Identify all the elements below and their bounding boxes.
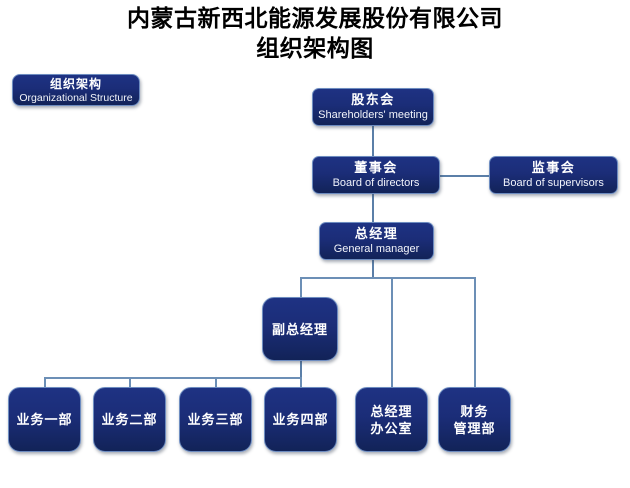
node-board-of-directors[interactable]: 董事会 Board of directors [312,156,440,194]
connector-deputy-distribution-bar [44,377,302,379]
connector-deputy-down-stub [300,361,302,378]
node-business-dept-3[interactable]: 业务三部 [179,387,252,452]
node-deputy-general-manager-label: 副总经理 [272,321,328,338]
node-finance-dept-label-line-1: 财务 [460,403,488,420]
node-shareholders-label-cn: 股东会 [351,92,395,108]
org-chart-canvas: 内蒙古新西北能源发展股份有限公司 组织架构图 组织架构 Organization… [0,0,630,488]
connector-gm-to-gm-office [391,277,393,387]
node-gm-office-label-line-2: 办公室 [370,420,412,437]
node-general-manager-office[interactable]: 总经理 办公室 [355,387,428,452]
node-general-manager-label-en: General manager [334,242,420,256]
node-board-supervisors-label-cn: 监事会 [532,160,576,176]
legend-label-en: Organizational Structure [19,92,132,105]
connector-board-to-supervisors [440,175,490,177]
node-finance-management-dept[interactable]: 财务 管理部 [438,387,511,452]
node-general-manager[interactable]: 总经理 General manager [319,222,434,260]
connector-gm-down-stub [372,258,374,278]
node-board-directors-label-en: Board of directors [333,176,420,190]
node-business-dept-4-label: 业务四部 [272,411,328,428]
connector-gm-to-finance-dept [474,277,476,387]
node-business-dept-1[interactable]: 业务一部 [8,387,81,452]
node-business-dept-2[interactable]: 业务二部 [93,387,166,452]
legend-label-cn: 组织架构 [50,76,102,92]
page-title: 内蒙古新西北能源发展股份有限公司 组织架构图 [0,4,630,64]
node-board-supervisors-label-en: Board of supervisors [503,176,604,190]
node-board-directors-label-cn: 董事会 [354,160,398,176]
node-gm-office-label-line-1: 总经理 [370,403,412,420]
node-business-dept-4[interactable]: 业务四部 [264,387,337,452]
connector-deputy-to-business-1 [44,377,46,387]
page-title-line-2: 组织架构图 [0,34,630,64]
connector-deputy-to-business-3 [215,377,217,387]
connector-shareholders-to-board [372,126,374,156]
node-finance-dept-label-line-2: 管理部 [453,420,495,437]
node-board-of-supervisors[interactable]: 监事会 Board of supervisors [489,156,618,194]
connector-gm-to-deputy [300,277,302,299]
connector-deputy-to-business-4 [300,377,302,387]
node-shareholders-meeting[interactable]: 股东会 Shareholders' meeting [312,88,434,126]
page-title-line-1: 内蒙古新西北能源发展股份有限公司 [0,4,630,34]
connector-board-to-general-manager [372,192,374,222]
legend-organizational-structure: 组织架构 Organizational Structure [12,74,140,106]
node-business-dept-3-label: 业务三部 [187,411,243,428]
connector-deputy-to-business-2 [129,377,131,387]
node-shareholders-label-en: Shareholders' meeting [318,108,428,122]
node-business-dept-1-label: 业务一部 [16,411,72,428]
node-business-dept-2-label: 业务二部 [101,411,157,428]
node-general-manager-label-cn: 总经理 [355,226,399,242]
connector-gm-distribution-bar [300,277,475,279]
node-deputy-general-manager[interactable]: 副总经理 [262,297,338,361]
